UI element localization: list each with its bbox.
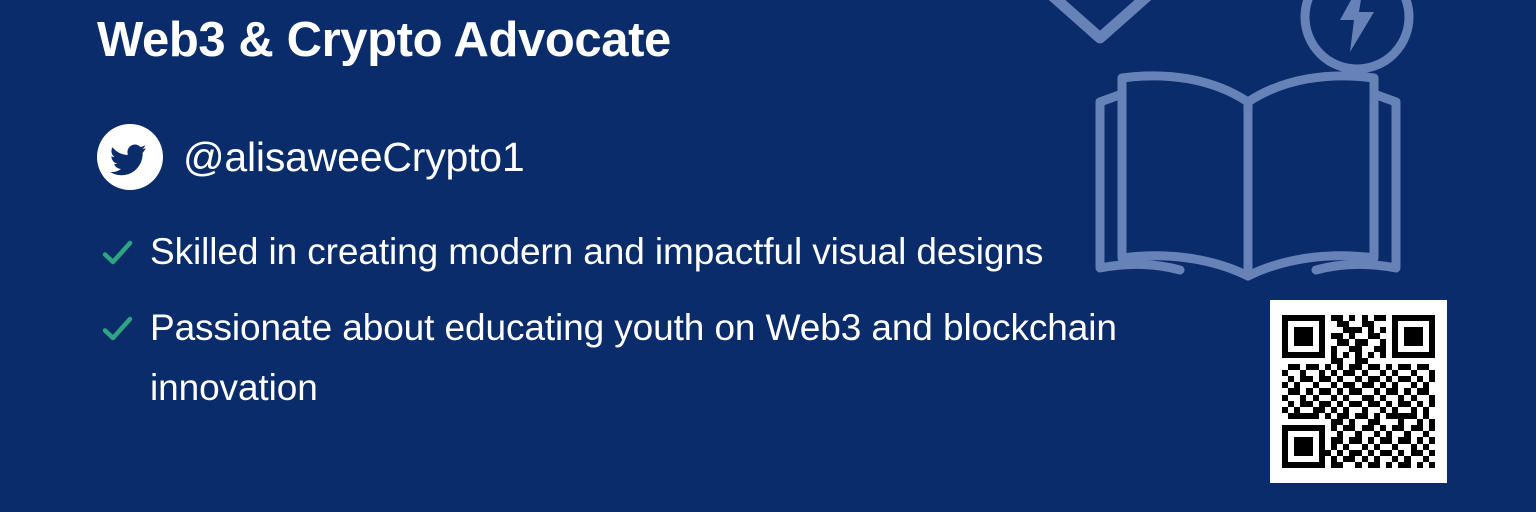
list-item-text: Skilled in creating modern and impactful… <box>150 222 1043 282</box>
check-icon <box>100 312 134 346</box>
social-handle-text: @alisaweeCrypto1 <box>183 134 525 181</box>
qr-code-matrix <box>1282 315 1435 468</box>
page-title: Web3 & Crypto Advocate <box>97 12 671 68</box>
lightning-bolt-circle-icon <box>1296 0 1418 78</box>
profile-banner: Web3 & Crypto Advocate @alisaweeCrypto1 … <box>0 0 1536 512</box>
feature-bullet-list: Skilled in creating modern and impactful… <box>100 222 1170 434</box>
social-handle-row[interactable]: @alisaweeCrypto1 <box>97 124 525 190</box>
list-item-text: Passionate about educating youth on Web3… <box>150 298 1170 418</box>
twitter-bird-icon[interactable] <box>97 124 163 190</box>
qr-code[interactable] <box>1270 300 1447 483</box>
list-item: Skilled in creating modern and impactful… <box>100 222 1170 282</box>
chevron-loops-icon <box>960 0 1240 52</box>
list-item: Passionate about educating youth on Web3… <box>100 298 1170 418</box>
check-icon <box>100 236 134 270</box>
